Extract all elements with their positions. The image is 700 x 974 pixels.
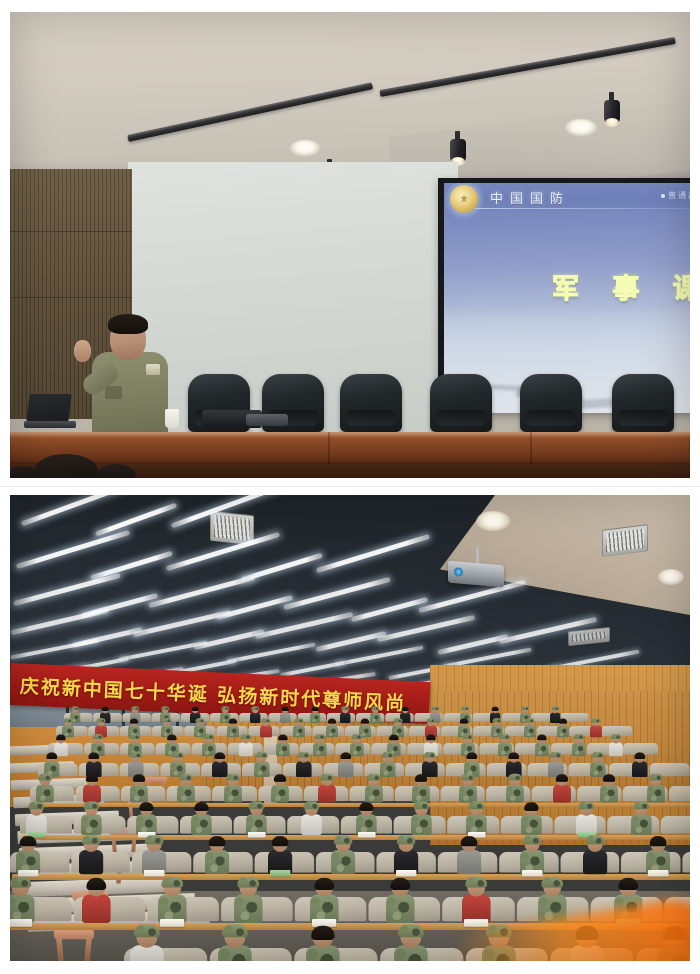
- camouflage-cap-icon: [28, 801, 44, 809]
- camouflage-cap-icon: [261, 718, 270, 723]
- student-hair: [340, 752, 351, 759]
- top-photo-frame: 中国国防 普通高 军 事 课: [0, 0, 700, 487]
- student: [462, 879, 491, 923]
- student: [326, 719, 338, 737]
- presenter-officer: [82, 314, 178, 434]
- presenter-pointing-hand: [74, 340, 91, 362]
- student: [386, 879, 415, 923]
- student-hair: [402, 707, 409, 711]
- student: [130, 775, 148, 803]
- presenter-hair: [108, 314, 148, 334]
- student: [83, 775, 101, 803]
- student-uniform: [600, 785, 618, 803]
- student: [632, 753, 648, 777]
- student: [521, 803, 542, 835]
- camouflage-cap-icon: [523, 835, 542, 844]
- top-photo: 中国国防 普通高 军 事 课: [10, 12, 690, 478]
- camouflage-cap-icon: [521, 706, 529, 710]
- student: [394, 927, 428, 961]
- student-hair: [634, 752, 645, 759]
- student: [356, 803, 377, 835]
- student: [224, 775, 242, 803]
- student: [205, 837, 229, 874]
- camouflage-cap-icon: [172, 752, 184, 758]
- student: [16, 837, 40, 874]
- camouflage-cap-icon: [161, 877, 183, 888]
- student: [313, 735, 327, 756]
- camouflage-cap-icon: [492, 718, 501, 723]
- student: [370, 707, 380, 723]
- student-uniform: [293, 725, 305, 737]
- student: [271, 775, 289, 803]
- student-uniform: [234, 894, 263, 923]
- student-hair: [618, 878, 638, 890]
- slide-header-tag-text: 普通高: [668, 191, 690, 200]
- student-hair: [328, 719, 336, 724]
- camouflage-cap-icon: [315, 734, 326, 739]
- student-uniform: [239, 742, 253, 756]
- camouflage-cap-icon: [413, 801, 429, 809]
- student: [380, 753, 396, 777]
- camouflage-cap-icon: [161, 706, 169, 710]
- camouflage-cap-icon: [130, 752, 142, 758]
- notebook: [648, 870, 668, 877]
- laptop: [24, 394, 76, 428]
- camouflage-cap-icon: [611, 734, 622, 739]
- bottom-photo-frame: 庆祝新中国七十华诞 弘扬新时代尊师风尚: [0, 487, 700, 974]
- student-uniform: [313, 742, 327, 756]
- student-uniform: [535, 742, 549, 756]
- student-hair: [194, 802, 208, 811]
- student: [557, 719, 569, 737]
- camouflage-cap-icon: [574, 734, 585, 739]
- student-hair: [311, 926, 334, 940]
- student: [365, 775, 383, 803]
- student: [212, 753, 228, 777]
- camouflage-cap-icon: [508, 774, 522, 781]
- student: [331, 837, 355, 874]
- student-hair: [461, 836, 478, 846]
- national-defense-emblem-icon: [450, 185, 478, 213]
- student: [422, 753, 438, 777]
- paper-cup: [165, 409, 179, 428]
- stage-chair: [340, 374, 402, 432]
- stage-chair: [430, 374, 492, 432]
- student: [239, 735, 253, 756]
- student: [394, 837, 418, 874]
- camouflage-cap-icon: [551, 706, 559, 710]
- camouflage-cap-icon: [431, 706, 439, 710]
- student-uniform: [521, 814, 542, 835]
- student: [81, 803, 102, 835]
- student-uniform: [301, 814, 322, 835]
- notebook: [464, 919, 488, 927]
- student-uniform: [590, 725, 602, 737]
- student: [86, 753, 102, 777]
- camouflage-cap-icon: [649, 774, 663, 781]
- camouflage-cap-icon: [397, 835, 416, 844]
- student: [250, 707, 260, 723]
- camouflage-cap-icon: [63, 718, 72, 723]
- camouflage-cap-icon: [294, 718, 303, 723]
- student: [318, 775, 336, 803]
- air-vent-icon: [602, 524, 648, 557]
- camouflage-cap-icon: [38, 774, 52, 781]
- student: [136, 803, 157, 835]
- student: [130, 927, 164, 961]
- camouflage-cap-icon: [248, 801, 264, 809]
- student: [609, 735, 623, 756]
- student-uniform: [191, 814, 212, 835]
- student: [631, 803, 652, 835]
- student: [296, 753, 312, 777]
- student-uniform: [276, 742, 290, 756]
- notebook: [144, 870, 164, 877]
- camouflage-cap-icon: [461, 706, 469, 710]
- fold-down-desk: [12, 874, 690, 880]
- camouflage-cap-icon: [145, 835, 164, 844]
- student-uniform: [280, 713, 290, 723]
- student-hair: [56, 734, 66, 740]
- student-hair: [415, 774, 427, 782]
- camouflage-cap-icon: [298, 752, 310, 758]
- student-hair: [508, 752, 519, 759]
- camouflage-cap-icon: [10, 877, 31, 888]
- camouflage-cap-icon: [93, 734, 104, 739]
- student-hair: [537, 734, 547, 740]
- student-hair: [272, 836, 289, 846]
- camouflage-cap-icon: [256, 752, 268, 758]
- student: [276, 735, 290, 756]
- student-hair: [214, 752, 225, 759]
- downlight-icon: [290, 140, 320, 156]
- student: [280, 707, 290, 723]
- camouflage-cap-icon: [134, 924, 160, 937]
- student: [177, 775, 195, 803]
- student-uniform: [205, 850, 229, 874]
- student: [293, 719, 305, 737]
- camouflage-cap-icon: [222, 924, 248, 937]
- student-hair: [390, 878, 410, 890]
- student: [310, 707, 320, 723]
- student: [227, 719, 239, 737]
- student-hair: [167, 734, 177, 740]
- slide-header-tag: 普通高: [661, 190, 690, 201]
- student-hair: [314, 878, 334, 890]
- student-uniform: [310, 713, 320, 723]
- student: [506, 775, 524, 803]
- student: [646, 837, 670, 874]
- camouflage-cap-icon: [541, 877, 563, 888]
- camouflage-cap-icon: [465, 877, 487, 888]
- student-hair: [88, 752, 99, 759]
- student: [234, 879, 263, 923]
- student: [246, 803, 267, 835]
- student: [412, 775, 430, 803]
- camouflage-cap-icon: [461, 774, 475, 781]
- auditorium-seat: [669, 786, 690, 801]
- student: [158, 879, 187, 923]
- auditorium-seat: [682, 852, 690, 872]
- camouflage-cap-icon: [320, 774, 334, 781]
- notebook: [358, 832, 376, 838]
- desk-equipment-secondary: [246, 414, 288, 426]
- air-vent-icon: [210, 511, 254, 546]
- seat-row: [30, 786, 690, 801]
- student: [535, 735, 549, 756]
- student: [411, 803, 432, 835]
- projector-lens-icon: [454, 567, 463, 577]
- camouflage-cap-icon: [83, 801, 99, 809]
- student-uniform: [331, 850, 355, 874]
- student: [466, 803, 487, 835]
- student: [26, 803, 47, 835]
- student-hair: [359, 802, 373, 811]
- student-hair: [86, 774, 98, 782]
- camouflage-cap-icon: [382, 752, 394, 758]
- student-hair: [282, 707, 289, 711]
- student-hair: [229, 719, 237, 724]
- student-hair: [20, 836, 37, 846]
- camouflage-cap-icon: [550, 752, 562, 758]
- camouflage-cap-icon: [426, 718, 435, 723]
- student-uniform: [81, 814, 102, 835]
- stage-chair: [612, 374, 674, 432]
- camouflage-cap-icon: [371, 706, 379, 710]
- student-uniform: [296, 761, 312, 777]
- camouflage-cap-icon: [303, 801, 319, 809]
- camouflage-cap-icon: [592, 752, 604, 758]
- camouflage-cap-icon: [352, 734, 363, 739]
- camouflage-cap-icon: [82, 835, 101, 844]
- student-hair: [492, 707, 499, 711]
- student-uniform: [365, 785, 383, 803]
- student: [600, 775, 618, 803]
- student: [128, 753, 144, 777]
- camouflage-cap-icon: [463, 734, 474, 739]
- student-hair: [559, 719, 567, 724]
- student-hair: [650, 836, 667, 846]
- student-uniform: [340, 713, 350, 723]
- camouflage-cap-icon: [334, 835, 353, 844]
- camouflage-cap-icon: [367, 774, 381, 781]
- student: [260, 719, 272, 737]
- student-uniform: [83, 785, 101, 803]
- student: [82, 879, 111, 923]
- student: [647, 775, 665, 803]
- camouflage-cap-icon: [221, 706, 229, 710]
- student-hair: [209, 836, 226, 846]
- student-uniform: [506, 785, 524, 803]
- camouflage-cap-icon: [591, 718, 600, 723]
- slide-main-title: 军 事 课: [552, 267, 690, 306]
- student: [10, 879, 35, 923]
- slide-header-title: 中国国防: [490, 188, 570, 207]
- student-uniform: [250, 713, 260, 723]
- student-hair: [426, 734, 436, 740]
- student-uniform: [412, 785, 430, 803]
- student-hair: [139, 802, 153, 811]
- student-uniform: [459, 785, 477, 803]
- photo-pair-page: 中国国防 普通高 军 事 课: [0, 0, 700, 974]
- camouflage-cap-icon: [586, 835, 605, 844]
- student-uniform: [457, 850, 481, 874]
- camouflage-cap-icon: [633, 801, 649, 809]
- student-hair: [361, 719, 369, 724]
- student-hair: [130, 719, 138, 724]
- camouflage-cap-icon: [130, 734, 141, 739]
- student-hair: [46, 752, 57, 759]
- student-hair: [556, 774, 568, 782]
- student-hair: [524, 802, 538, 811]
- student-uniform: [254, 761, 270, 777]
- student-hair: [466, 752, 477, 759]
- student-uniform: [370, 713, 380, 723]
- student-uniform: [386, 894, 415, 923]
- notebook: [248, 832, 266, 838]
- stage-table: [10, 432, 690, 464]
- notebook: [396, 870, 416, 877]
- notebook: [10, 919, 32, 927]
- camouflage-cap-icon: [179, 774, 193, 781]
- student-hair: [192, 707, 199, 711]
- student: [79, 837, 103, 874]
- camouflage-cap-icon: [393, 718, 402, 723]
- student-uniform: [326, 725, 338, 737]
- notebook: [522, 870, 542, 877]
- camouflage-cap-icon: [241, 734, 252, 739]
- student-uniform: [609, 742, 623, 756]
- bottom-photo: 庆祝新中国七十华诞 弘扬新时代尊师风尚: [10, 495, 690, 961]
- student: [583, 837, 607, 874]
- camouflage-cap-icon: [195, 718, 204, 723]
- student-hair: [274, 774, 286, 782]
- student-uniform: [130, 785, 148, 803]
- downlight-icon: [476, 511, 510, 531]
- student-hair: [86, 878, 106, 890]
- camouflage-cap-icon: [525, 718, 534, 723]
- student: [268, 837, 292, 874]
- auditorium-seat: [661, 816, 690, 834]
- student-uniform: [271, 785, 289, 803]
- downlight-icon: [565, 119, 597, 136]
- student-uniform: [227, 725, 239, 737]
- student: [310, 879, 339, 923]
- student-hair: [460, 719, 468, 724]
- student-hair: [389, 734, 399, 740]
- student-uniform: [79, 850, 103, 874]
- camouflage-cap-icon: [237, 877, 259, 888]
- camouflage-cap-icon: [424, 752, 436, 758]
- student: [306, 927, 340, 961]
- student-uniform: [338, 761, 354, 777]
- camouflage-cap-icon: [96, 718, 105, 723]
- camouflage-cap-icon: [162, 718, 171, 723]
- student: [576, 803, 597, 835]
- student-uniform: [583, 850, 607, 874]
- uniform-badge-icon: [146, 364, 160, 375]
- camouflage-cap-icon: [204, 734, 215, 739]
- student-uniform: [553, 785, 571, 803]
- stage-chair: [520, 374, 582, 432]
- student: [142, 837, 166, 874]
- student-uniform: [318, 785, 336, 803]
- student-hair: [133, 774, 145, 782]
- camouflage-cap-icon: [71, 706, 79, 710]
- camouflage-cap-icon: [500, 734, 511, 739]
- student-uniform: [411, 814, 432, 835]
- camouflage-cap-icon: [398, 924, 424, 937]
- notebook: [270, 870, 290, 877]
- student: [520, 837, 544, 874]
- notebook: [160, 919, 184, 927]
- student: [590, 719, 602, 737]
- student: [254, 753, 270, 777]
- student: [459, 775, 477, 803]
- camouflage-cap-icon: [226, 774, 240, 781]
- student-hair: [603, 774, 615, 782]
- student-uniform: [260, 725, 272, 737]
- student-uniform: [647, 785, 665, 803]
- student-uniform: [632, 761, 648, 777]
- downlight-icon: [658, 569, 684, 585]
- camouflage-cap-icon: [341, 706, 349, 710]
- camouflage-cap-icon: [131, 706, 139, 710]
- student: [572, 735, 586, 756]
- student-uniform: [224, 785, 242, 803]
- student-uniform: [36, 785, 54, 803]
- student-uniform: [177, 785, 195, 803]
- student-uniform: [572, 742, 586, 756]
- student-hair: [102, 707, 109, 711]
- student: [553, 775, 571, 803]
- student-uniform: [631, 814, 652, 835]
- camouflage-cap-icon: [251, 706, 259, 710]
- student: [457, 837, 481, 874]
- student: [340, 707, 350, 723]
- student-uniform: [557, 725, 569, 737]
- plastic-stool: [54, 929, 94, 961]
- student: [301, 803, 322, 835]
- student: [36, 775, 54, 803]
- camouflage-cap-icon: [578, 801, 594, 809]
- student: [191, 803, 212, 835]
- student-uniform: [82, 894, 111, 923]
- student-hair: [312, 707, 319, 711]
- camouflage-cap-icon: [468, 801, 484, 809]
- student-hair: [278, 734, 288, 740]
- student: [338, 753, 354, 777]
- student: [590, 753, 606, 777]
- student: [218, 927, 252, 961]
